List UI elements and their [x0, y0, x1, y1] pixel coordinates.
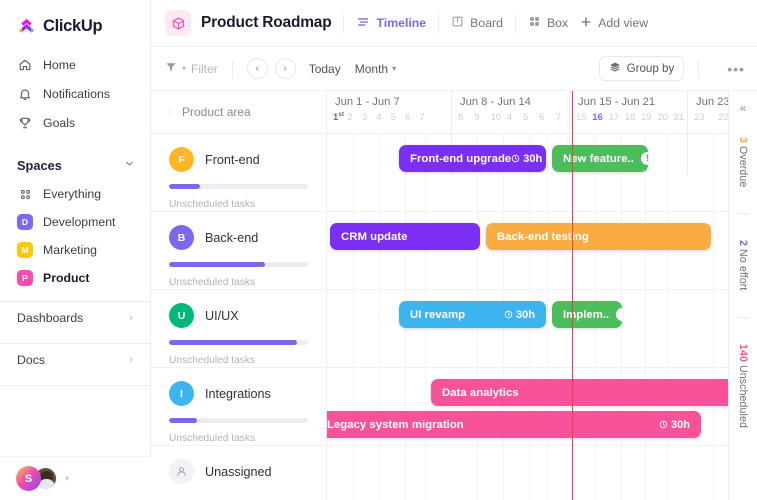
zoom-level-select[interactable]: Month ▾ [355, 62, 396, 76]
zoom-level-label: Month [355, 62, 388, 76]
week-label: Jun 1 - Jun 7 [327, 91, 431, 108]
task-bar[interactable]: Data analytics [431, 379, 728, 406]
row-name: Front-end [205, 153, 260, 167]
timeline-icon [356, 15, 370, 32]
trophy-icon [17, 115, 32, 130]
timeline-lanes[interactable]: Front-end upgrade 30h New feature.. ! CR… [327, 133, 728, 500]
day-cell: 5 [388, 111, 402, 122]
task-title: Legacy system migration [327, 419, 464, 431]
box-icon [528, 15, 541, 31]
task-hours: 30h [659, 419, 690, 431]
unscheduled-label: Unscheduled tasks [169, 199, 308, 210]
alert-icon: ! [641, 152, 648, 165]
task-bar[interactable]: New feature.. ! [552, 145, 648, 172]
separator [738, 317, 749, 318]
rail-label: Overdue [737, 146, 749, 187]
plus-icon [580, 16, 592, 31]
day-cell: 17 [606, 111, 622, 122]
grid-dots-icon [17, 186, 33, 202]
filter-label: Filter [191, 62, 218, 76]
rail-count: 3 [737, 137, 749, 143]
column-header[interactable]: ⋮ Product area [151, 91, 326, 133]
tab-label: Timeline [376, 16, 426, 30]
sidebar-item-notifications[interactable]: Notifications [0, 79, 150, 108]
task-title: Back-end testing [497, 231, 589, 243]
timeline-toolbar: ▾ Filter ‹ › Today Month ▾ [151, 47, 757, 91]
tab-box[interactable]: Box [528, 15, 568, 31]
avatar: I [169, 381, 194, 406]
add-view-label: Add view [598, 16, 648, 30]
row-label-integrations[interactable]: I Integrations Unscheduled tasks [151, 367, 326, 445]
day-cell: 1st [330, 111, 344, 122]
timeline-grid[interactable]: Jun 1 - Jun 7 1st 2 3 4 5 6 7 Jun 8 - Ju… [327, 91, 728, 500]
week-label: Jun 15 - Jun 21 [570, 91, 687, 108]
clickup-app: ClickUp Home Notifications [0, 0, 757, 500]
brand-logo[interactable]: ClickUp [0, 0, 150, 50]
day-cell: 18 [622, 111, 638, 122]
sidebar-item-label: Dashboards [17, 311, 83, 325]
avatar[interactable]: S [16, 466, 41, 491]
day-cell: 2 [344, 111, 358, 122]
bell-icon [17, 86, 32, 101]
left-sidebar: ClickUp Home Notifications [0, 0, 151, 500]
task-bar[interactable]: Legacy system migration 30h [327, 411, 701, 438]
progress-bar [169, 184, 308, 189]
week-column: Jun 15 - Jun 21 15 16 17 18 19 20 21 [569, 91, 687, 133]
alert-icon: ! [616, 308, 622, 321]
separator [438, 14, 439, 33]
avatar: B [169, 225, 194, 250]
avatar: F [169, 147, 194, 172]
rail-item-unscheduled[interactable]: 140 Unscheduled [737, 344, 749, 428]
tab-label: Box [547, 16, 568, 30]
next-period-button[interactable]: › [275, 58, 296, 79]
row-name: Unassigned [205, 465, 272, 479]
page-title: Product Roadmap [201, 14, 331, 32]
task-title: CRM update [341, 231, 407, 243]
sidebar-item-goals[interactable]: Goals [0, 108, 150, 137]
unscheduled-label: Unscheduled tasks [169, 355, 308, 366]
row-label-back-end[interactable]: B Back-end Unscheduled tasks [151, 211, 326, 289]
day-cell: 21 [671, 111, 687, 122]
sidebar-item-docs[interactable]: Docs › [0, 344, 150, 376]
user-avatar-group[interactable]: S ▾ [0, 456, 151, 500]
row-label-front-end[interactable]: F Front-end Unscheduled tasks [151, 133, 326, 211]
chevron-down-icon[interactable] [124, 156, 135, 174]
timeline-body: ⋮ Product area F Front-end Unscheduled t… [151, 91, 757, 500]
day-cell: 3 [359, 111, 373, 122]
main-panel: Product Roadmap Timeline Board [151, 0, 757, 500]
rail-count: 2 [737, 240, 749, 246]
row-name: UI/UX [205, 309, 239, 323]
day-cell: 10 [488, 111, 504, 122]
layers-icon [609, 61, 621, 76]
tab-label: Board [470, 16, 503, 30]
spaces-title: Spaces [17, 158, 62, 173]
day-cell: 23 [691, 111, 715, 122]
task-title: Data analytics [442, 387, 519, 399]
chevron-right-icon: › [129, 312, 133, 324]
rail-label: Unscheduled [737, 365, 749, 428]
space-badge: D [17, 214, 33, 230]
sidebar-item-home[interactable]: Home [0, 50, 150, 79]
right-rail: « 3 Overdue 2 No effort 140 Unscheduled [728, 91, 757, 500]
sidebar-item-label: Goals [43, 116, 75, 130]
day-cell: 15 [573, 111, 589, 122]
day-cell: 5 [520, 111, 536, 122]
today-marker-line [572, 91, 573, 500]
space-label: Marketing [43, 243, 97, 257]
day-cell: 4 [504, 111, 520, 122]
rail-count: 140 [737, 344, 749, 362]
task-title: Implem.. [563, 309, 609, 321]
chevron-down-icon: ▾ [392, 64, 396, 73]
sidebar-item-dashboards[interactable]: Dashboards › [0, 302, 150, 334]
sidebar-divider [0, 385, 150, 386]
day-cell: 20 [654, 111, 670, 122]
filter-icon [165, 60, 177, 78]
task-bar[interactable]: UI revamp 30h [399, 301, 546, 328]
rail-label: No effort [737, 249, 749, 290]
task-bar[interactable]: Back-end testing [486, 223, 711, 250]
sidebar-item-label: Docs [17, 353, 45, 367]
separator [343, 14, 344, 33]
week-column: Jun 23 - Jun 23 22 24 25 [687, 91, 728, 133]
sidebar-item-development[interactable]: D Development [0, 208, 150, 236]
column-header-label: Product area [182, 105, 251, 119]
progress-bar [169, 340, 308, 345]
day-cell: 9 [471, 111, 487, 122]
group-by-button[interactable]: Group by [599, 56, 685, 81]
week-column: Jun 1 - Jun 7 1st 2 3 4 5 6 7 [327, 91, 431, 133]
filter-button[interactable]: ▾ Filter [165, 60, 218, 78]
day-cell: 7 [417, 111, 431, 122]
prev-period-button[interactable]: ‹ [247, 58, 268, 79]
avatar: U [169, 303, 194, 328]
rail-item-overdue[interactable]: 3 Overdue [737, 137, 749, 187]
brand-name: ClickUp [43, 17, 102, 36]
task-hours: 30h [511, 153, 542, 165]
add-view-button[interactable]: Add view [580, 16, 648, 31]
sidebar-item-everything[interactable]: Everything [0, 180, 150, 208]
task-title: New feature.. [563, 153, 634, 165]
view-header: Product Roadmap Timeline Board [151, 0, 757, 47]
day-cell: 19 [638, 111, 654, 122]
space-badge: M [17, 242, 33, 258]
day-cell: 6 [536, 111, 552, 122]
progress-bar [169, 262, 308, 267]
chevron-down-icon: ▾ [182, 64, 186, 73]
avatar-unassigned-icon [169, 459, 194, 484]
task-bar[interactable]: Implem.. ! [552, 301, 622, 328]
task-bar[interactable]: CRM update [330, 223, 480, 250]
today-button[interactable]: Today [309, 62, 341, 76]
group-by-label: Group by [627, 62, 675, 75]
view-cube-icon [165, 10, 191, 36]
home-icon [17, 57, 32, 72]
week-label: Jun 23 - Jun [688, 91, 728, 108]
day-cell: 6 [402, 111, 416, 122]
row-label-ui-ux[interactable]: U UI/UX Unscheduled tasks [151, 289, 326, 367]
day-cell: 4 [373, 111, 387, 122]
sidebar-item-product[interactable]: P Product [0, 264, 150, 292]
task-hours: 30h [504, 309, 535, 321]
unscheduled-label: Unscheduled tasks [169, 433, 308, 444]
day-cell: 22 [715, 111, 728, 122]
day-cell-today: 16 [589, 111, 605, 122]
drag-handle-icon[interactable]: ⋮ [165, 107, 175, 118]
chevron-down-icon[interactable]: ▾ [65, 474, 69, 483]
space-label: Everything [43, 187, 101, 201]
more-options-button[interactable]: ••• [727, 61, 745, 77]
separator [232, 60, 233, 78]
separator [738, 213, 749, 214]
sidebar-item-label: Home [43, 58, 76, 72]
row-name: Back-end [205, 231, 258, 245]
spaces-section-header[interactable]: Spaces [0, 150, 150, 180]
unscheduled-label: Unscheduled tasks [169, 277, 308, 288]
progress-bar [169, 418, 308, 423]
separator [698, 60, 699, 78]
task-bar[interactable]: Front-end upgrade 30h [399, 145, 546, 172]
space-label: Development [43, 215, 115, 229]
date-header: Jun 1 - Jun 7 1st 2 3 4 5 6 7 Jun 8 - Ju… [327, 91, 728, 133]
space-label: Product [43, 271, 89, 285]
rail-item-no-effort[interactable]: 2 No effort [737, 240, 749, 290]
row-name: Integrations [205, 387, 271, 401]
sidebar-item-label: Notifications [43, 87, 110, 101]
row-label-unassigned[interactable]: Unassigned [151, 445, 326, 500]
chevron-right-icon: › [129, 354, 133, 366]
week-label: Jun 8 - Jun 14 [452, 91, 569, 108]
week-column: Jun 8 - Jun 14 8 9 10 4 5 6 7 [451, 91, 569, 133]
tab-timeline[interactable]: Timeline [356, 15, 426, 32]
clickup-logo-icon [17, 17, 36, 36]
day-cell: 8 [455, 111, 471, 122]
task-title: UI revamp [410, 309, 465, 321]
space-badge: P [17, 270, 33, 286]
tab-board[interactable]: Board [451, 15, 503, 31]
task-title: Front-end upgrade [410, 153, 511, 165]
product-area-column: ⋮ Product area F Front-end Unscheduled t… [151, 91, 327, 500]
separator [515, 14, 516, 33]
collapse-rail-button[interactable]: « [740, 101, 747, 115]
day-cell: 7 [553, 111, 569, 122]
sidebar-item-marketing[interactable]: M Marketing [0, 236, 150, 264]
board-icon [451, 15, 464, 31]
